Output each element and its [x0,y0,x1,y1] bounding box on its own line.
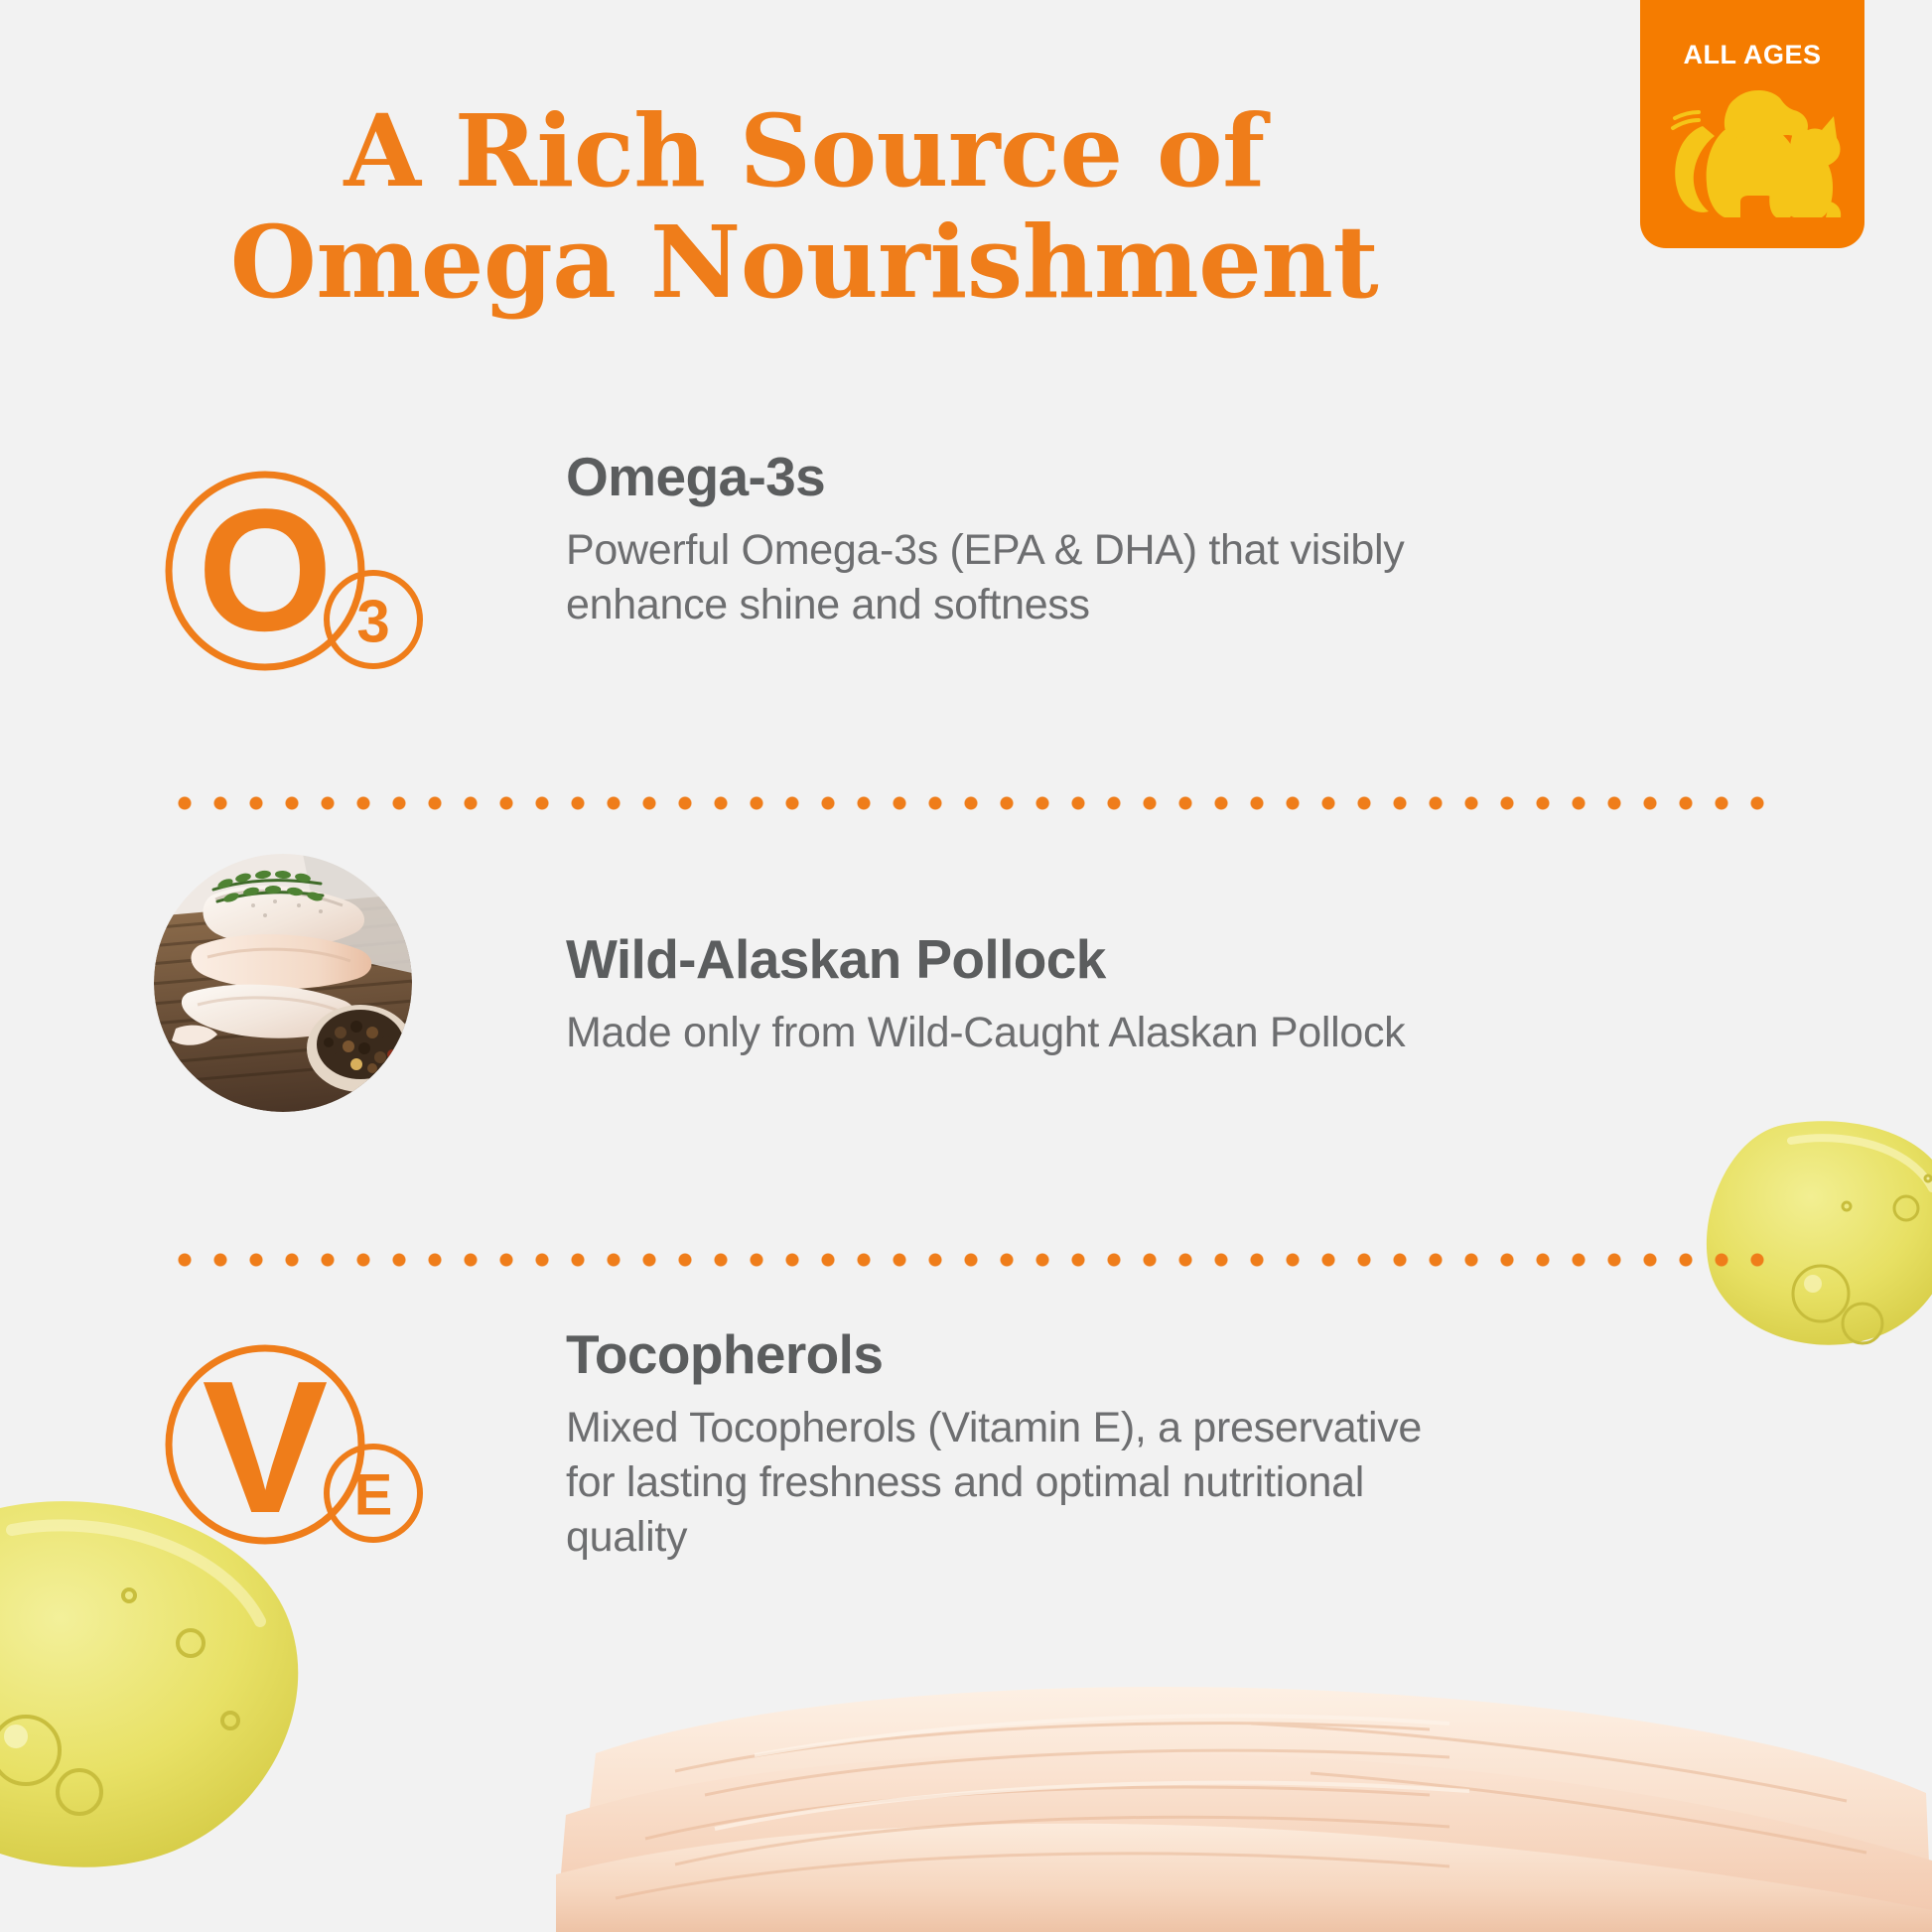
page-title-line-2: Omega Nourishment [0,207,1608,318]
fish-fillets-photo [556,1644,1932,1932]
omega-number-3: 3 [356,589,389,655]
infographic-page: ALL AGES [0,0,1932,1932]
all-ages-badge: ALL AGES [1640,0,1864,248]
feature-body-tocopherols: Mixed Tocopherols (Vitamin E), a preserv… [566,1401,1459,1565]
vitamin-letter-e: E [354,1463,393,1528]
feature-row-omega3: O 3 Omega-3s Powerful Omega-3s (EPA & DH… [0,447,1932,695]
vitamin-letter-v: V [203,1342,329,1553]
feature-row-tocopherols: V E Tocopherols Mixed Tocopherols (Vitam… [0,1320,1932,1569]
feature-title-omega3: Omega-3s [566,447,1459,507]
feature-body-omega3: Powerful Omega-3s (EPA & DHA) that visib… [566,523,1459,632]
page-title-line-1: A Rich Source of [0,95,1608,207]
feature-title-pollock: Wild-Alaskan Pollock [566,929,1459,990]
omega-letter-o: O [198,475,333,668]
omega-3-circle-icon: O 3 [134,447,432,695]
feature-icon-container [0,854,566,1112]
feature-title-tocopherols: Tocopherols [566,1324,1459,1385]
page-title: A Rich Source of Omega Nourishment [0,95,1608,318]
feature-row-pollock: Wild-Alaskan Pollock Made only from Wild… [0,854,1932,1112]
feature-text-container: Wild-Alaskan Pollock Made only from Wild… [566,854,1459,1060]
feature-icon-container: O 3 [0,447,566,695]
pollock-fish-photo [154,854,412,1112]
section-divider [167,796,1767,810]
dog-and-cat-silhouette-icon [1663,76,1842,225]
section-divider [167,1253,1767,1267]
all-ages-badge-label: ALL AGES [1683,40,1821,70]
feature-icon-container: V E [0,1320,566,1569]
vitamin-e-circle-icon: V E [134,1320,432,1569]
feature-body-pollock: Made only from Wild-Caught Alaskan Pollo… [566,1006,1459,1060]
feature-text-container: Omega-3s Powerful Omega-3s (EPA & DHA) t… [566,447,1459,632]
oil-droplet-icon [1696,1117,1932,1345]
feature-text-container: Tocopherols Mixed Tocopherols (Vitamin E… [566,1320,1459,1565]
